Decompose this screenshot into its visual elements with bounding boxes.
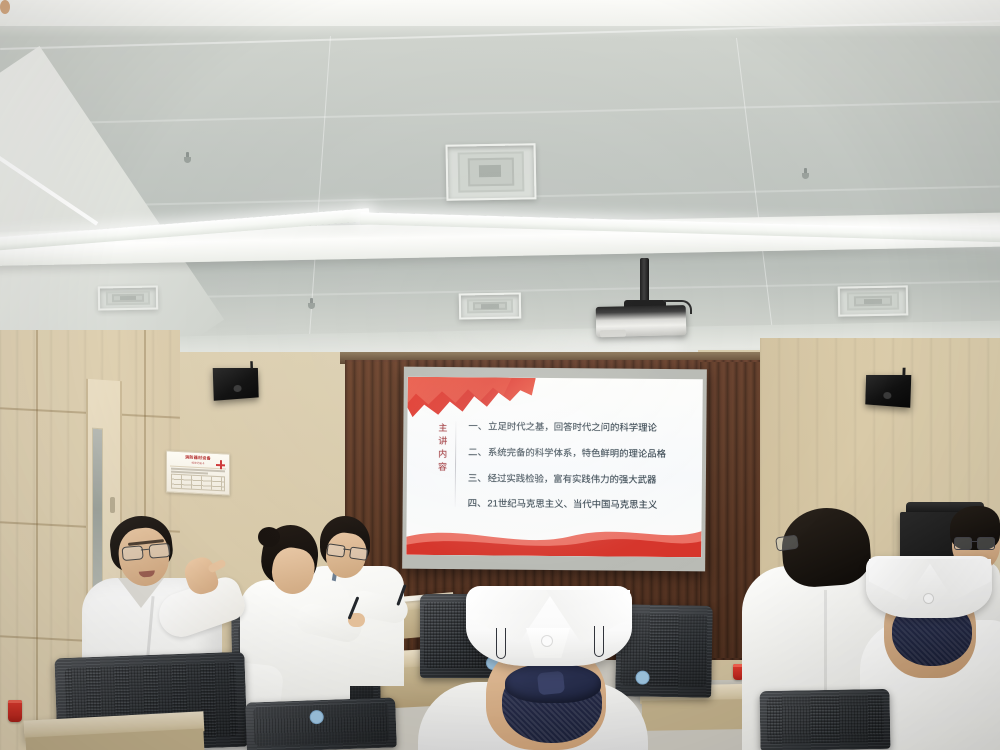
slide-item-text: 立足时代之基，回答时代之问的科学理论 [488,420,657,432]
nurse-cap-pin-right [594,626,604,657]
ceiling-corner-panel [0,46,224,372]
air-diffuser-icon [459,292,521,319]
chair[interactable] [759,689,890,750]
red-cross-icon [216,460,225,469]
wall-speaker-right [865,375,911,408]
slide-vertical-heading: 主讲内容 [430,423,446,475]
projection-screen: 主讲内容 一、立足时代之基，回答时代之问的科学理论 二、系统完备的科学体系，特色… [402,367,707,572]
slide-item: 三、经过实践检验，富有实践伟力的强大武器 [468,473,690,486]
slide-divider [455,421,457,507]
air-diffuser-icon [98,285,158,310]
nurse-cap-button [924,594,933,603]
door-handle[interactable] [110,497,115,513]
ceiling-edge [0,0,1000,26]
sprinkler-head-icon [184,152,191,164]
hair-bow-knot [537,671,565,696]
wall-notice-sign: 消防器材设备 检查记录卡 [166,450,230,495]
ear [0,0,10,14]
nurse-cap-button [542,636,552,646]
ceiling-seam [736,38,774,336]
slide-red-wave-bottom [406,515,701,558]
speaker-man-gesturing [0,0,10,14]
hair-bun [258,527,280,547]
slide-item-text: 21世纪马克思主义、当代中国马克思主义 [487,498,657,510]
air-diffuser-icon [446,143,537,201]
nurse-cap-pin-left [496,628,506,659]
slide-item-number: 一、 [468,420,487,431]
door-vision-panel [92,428,103,591]
notice-table [171,474,225,492]
sprinkler-head-icon [308,298,315,310]
ceiling-seam [0,101,1000,126]
slide-item: 一、立足时代之基，回答时代之问的科学理论 [468,421,690,434]
chair[interactable] [245,697,397,750]
glasses-icon [954,537,994,548]
sprinkler-head-icon [802,168,809,180]
slide-item-number: 三、 [468,472,487,483]
projector-lens [600,330,626,338]
slide-item-number: 四、 [468,498,487,509]
wall-speaker-left [213,368,259,401]
slide-content: 主讲内容 一、立足时代之基，回答时代之问的科学理论 二、系统完备的科学体系，特色… [406,377,703,558]
slide-item: 二、系统完备的科学体系，特色鲜明的理论品格 [468,447,690,460]
slide-item: 四、21世纪马克思主义、当代中国马克思主义 [468,499,690,512]
ceiling [0,0,1000,372]
slide-item-text: 经过实践检验，富有实践伟力的强大武器 [488,472,657,484]
red-cup [8,700,22,722]
slide-item-number: 二、 [468,446,487,457]
room-photo-scene: 消防器材设备 检查记录卡 主讲内容 一、立足时代之基，回答时代之问的科学理论 二… [0,0,1000,750]
air-diffuser-icon [838,285,909,316]
slide-item-text: 系统完备的科学体系，特色鲜明的理论品格 [488,446,666,459]
slide-item-list: 一、立足时代之基，回答时代之问的科学理论 二、系统完备的科学体系，特色鲜明的理论… [468,421,691,526]
